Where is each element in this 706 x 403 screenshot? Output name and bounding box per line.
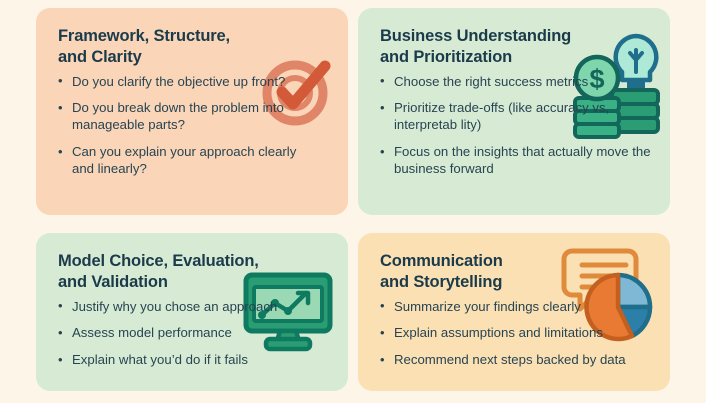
card-bullet-list: Do you clarify the objective up front? D… — [58, 74, 332, 178]
card-bullet-list: Choose the right success metrics Priorit… — [380, 74, 654, 178]
list-item: Assess model performance — [58, 325, 310, 342]
card-model-choice-evaluation-validation: Model Choice, Evaluation, and Validation… — [36, 233, 348, 391]
list-item: Recommend next steps backed by data — [380, 352, 654, 369]
list-item: Can you explain your approach clearly an… — [58, 144, 310, 178]
card-title: Model Choice, Evaluation, and Validation — [58, 251, 332, 293]
card-title: Framework, Structure, and Clarity — [58, 26, 332, 68]
card-title: Business Understanding and Prioritizatio… — [380, 26, 654, 68]
interview-criteria-grid: Framework, Structure, and Clarity Do you… — [36, 8, 670, 391]
card-bullet-list: Justify why you chose an approach Assess… — [58, 299, 332, 370]
list-item: Justify why you chose an approach — [58, 299, 310, 316]
card-bullet-list: Summarize your findings clearly Explain … — [380, 299, 654, 370]
list-item: Do you clarify the objective up front? — [58, 74, 310, 91]
list-item: Prioritize trade-offs (like accuracy vs,… — [380, 100, 632, 134]
list-item: Do you break down the problem into manag… — [58, 100, 310, 134]
card-communication-storytelling: Communication and Storytelling Summarize… — [358, 233, 670, 391]
card-business-understanding-prioritization: Business Understanding and Prioritizatio… — [358, 8, 670, 215]
list-item: Summarize your findings clearly — [380, 299, 632, 316]
list-item: Focus on the insights that actually move… — [380, 144, 654, 178]
card-framework-structure-clarity: Framework, Structure, and Clarity Do you… — [36, 8, 348, 215]
list-item: Explain what you’d do if it fails — [58, 352, 310, 369]
page-bottom-margin — [0, 392, 706, 403]
list-item: Choose the right success metrics — [380, 74, 632, 91]
list-item: Explain assumptions and limitations — [380, 325, 654, 342]
card-title: Communication and Storytelling — [380, 251, 654, 293]
